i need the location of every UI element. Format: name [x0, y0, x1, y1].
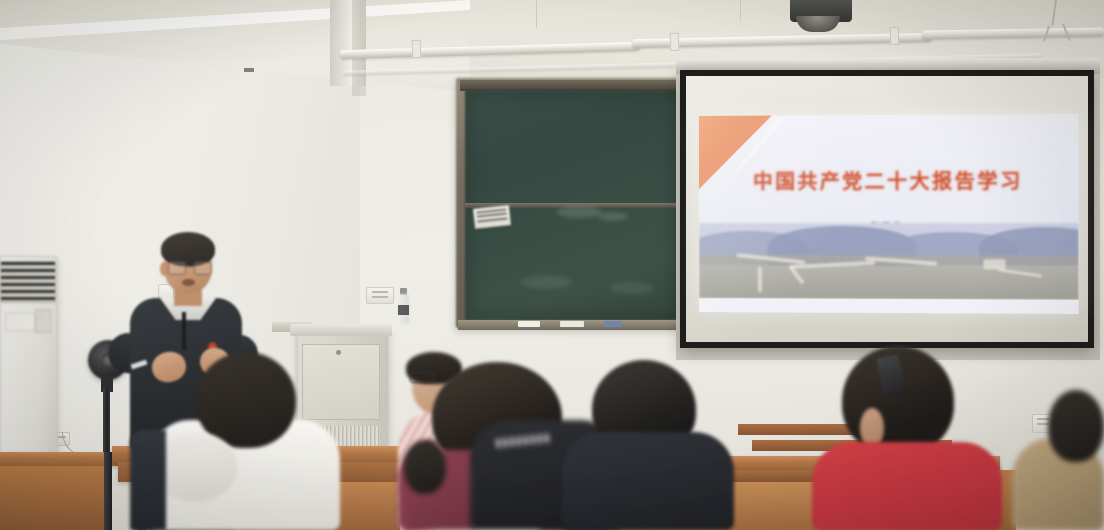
- light-clip: [890, 27, 900, 45]
- light-hanger: [536, 0, 537, 28]
- student-glasses-icon: [410, 372, 434, 383]
- lecturer-hair: [161, 232, 215, 266]
- light-clip: [412, 40, 422, 58]
- light-hanger: [360, 0, 361, 36]
- bottle-label: [398, 305, 409, 315]
- chalk-smudge: [556, 206, 602, 218]
- photo-great-wall-tower: [758, 267, 762, 293]
- chalk-smudge: [520, 275, 572, 289]
- fan-pole: [103, 388, 110, 460]
- chalk-smudge: [610, 282, 654, 294]
- student-khaki-head: [1048, 390, 1104, 462]
- ac-vent-grille: [0, 261, 56, 303]
- classroom-scene: 中国共产党二十大报告学习 彭建平 长城: [0, 0, 1104, 530]
- slide-photo-great-wall: 长城: [699, 223, 1079, 300]
- slide-footer-band: [699, 298, 1079, 314]
- chalk-piece: [518, 321, 540, 327]
- desk-leg: [104, 452, 112, 530]
- lectern-knob-icon[interactable]: [336, 350, 341, 355]
- lectern-top: [290, 324, 392, 336]
- blackboard-sticker: [473, 205, 511, 229]
- slide-title: 中国共产党二十大报告学习: [699, 165, 1079, 195]
- photo-great-wall-tower: [983, 259, 1005, 269]
- wall-socket[interactable]: [366, 287, 394, 304]
- ac-brand-text: [7, 347, 10, 354]
- light-clip: [670, 33, 680, 51]
- desk-row: [0, 452, 120, 466]
- chalk-smudge: [598, 212, 628, 221]
- wall-mark: [244, 68, 254, 72]
- beam-shadow: [352, 0, 366, 96]
- lecturer-mouth: [182, 279, 195, 286]
- student-navy-body: [562, 432, 734, 530]
- ac-display-panel[interactable]: [5, 313, 35, 331]
- ac-label: [35, 309, 51, 333]
- presentation-slide: 中国共产党二十大报告学习 彭建平 长城: [699, 114, 1079, 314]
- lecturer-placket: [182, 312, 186, 350]
- desk-body: [0, 466, 104, 530]
- glasses-icon: [168, 262, 210, 273]
- board-eraser-icon: [604, 321, 622, 327]
- lectern-cabinet-door[interactable]: [302, 344, 380, 420]
- student-dark-sleeve: [130, 430, 166, 530]
- light-hanger: [740, 0, 741, 20]
- student-partial-head: [404, 440, 446, 494]
- student-red-tee-body: [812, 442, 1002, 530]
- chalk-piece: [560, 321, 584, 327]
